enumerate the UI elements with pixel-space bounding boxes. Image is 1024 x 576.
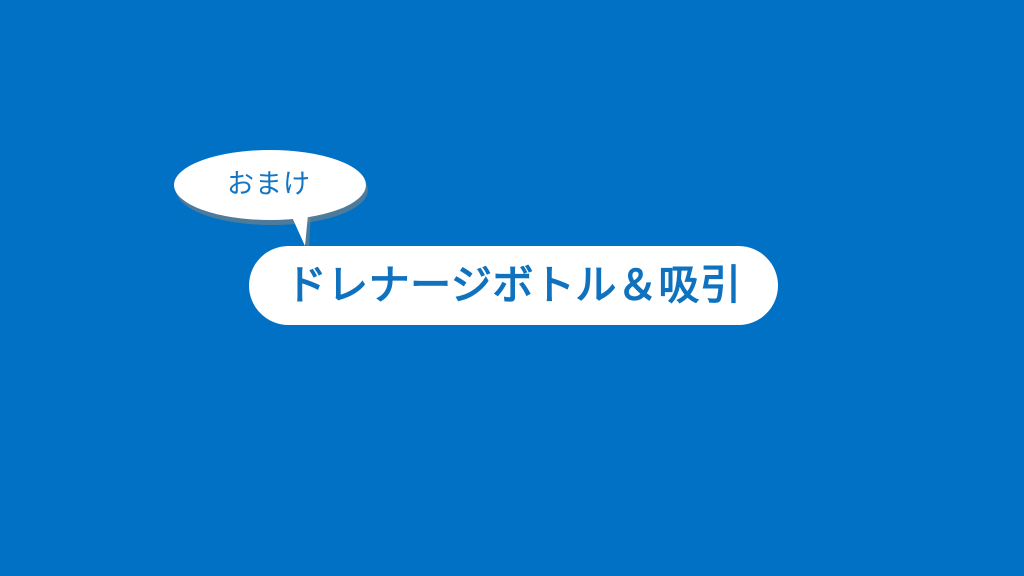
callout-label: おまけ	[171, 148, 367, 220]
callout-bubble: おまけ	[171, 148, 381, 252]
title-pill: ドレナージボトル＆吸引	[249, 246, 778, 325]
slide-canvas: おまけ ドレナージボトル＆吸引	[0, 0, 1024, 576]
page-title: ドレナージボトル＆吸引	[286, 265, 742, 306]
